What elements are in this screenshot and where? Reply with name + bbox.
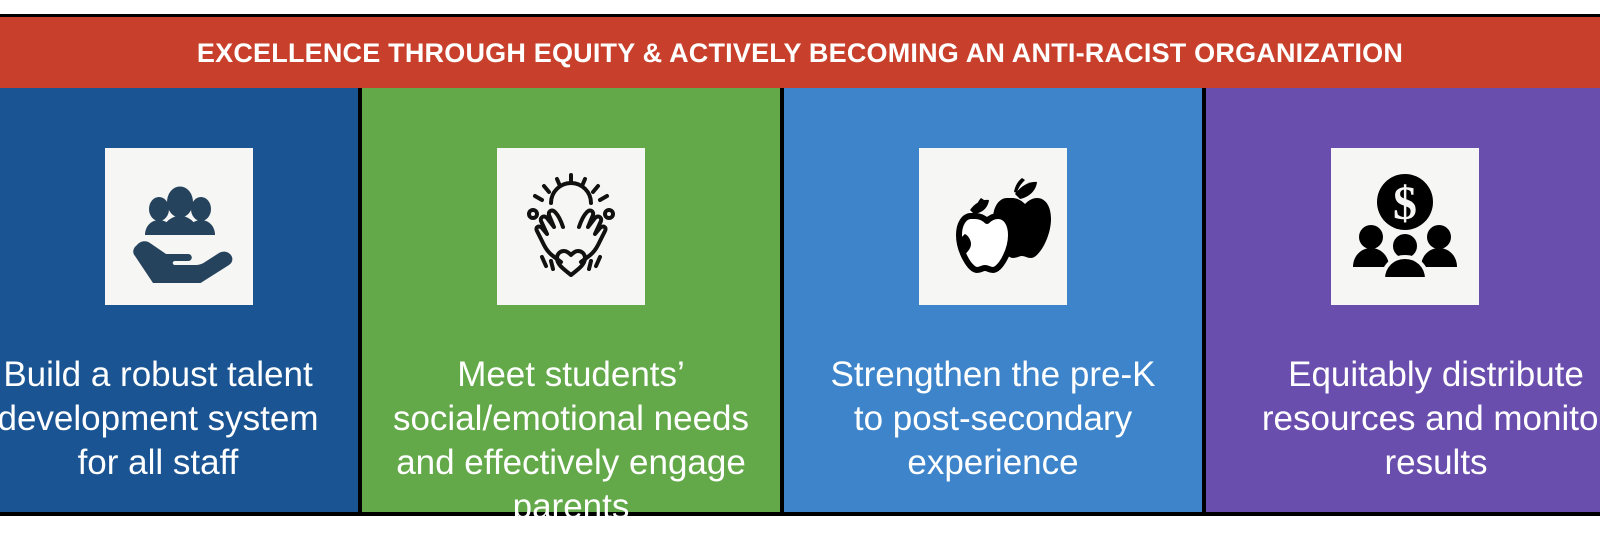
strategic-priorities-poster: EXCELLENCE THROUGH EQUITY & ACTIVELY BEC… bbox=[0, 0, 1600, 545]
two-apples-icon bbox=[935, 172, 1051, 282]
priority-column-talent-development[interactable]: Build a robust talent development system… bbox=[0, 88, 358, 516]
icon-tile bbox=[105, 148, 253, 305]
icon-tile: $ bbox=[1331, 148, 1479, 305]
priority-column-social-emotional-needs[interactable]: Meet students’ social/emotional needs an… bbox=[362, 88, 780, 516]
priority-columns: Build a robust talent development system… bbox=[0, 88, 1600, 516]
banner-title: EXCELLENCE THROUGH EQUITY & ACTIVELY BEC… bbox=[197, 40, 1403, 67]
priority-column-prek-to-postsecondary[interactable]: Strengthen the pre-K to post-secondary e… bbox=[784, 88, 1202, 516]
priority-column-label: Meet students’ social/emotional needs an… bbox=[356, 353, 786, 516]
banner: EXCELLENCE THROUGH EQUITY & ACTIVELY BEC… bbox=[0, 14, 1600, 88]
hand-holding-people-icon bbox=[123, 171, 235, 283]
priority-column-equitable-resources[interactable]: $ Equitably distribute resources and mon… bbox=[1206, 88, 1600, 516]
open-hands-heart-sunburst-icon bbox=[513, 169, 629, 285]
dollar-coin-over-people-icon: $ bbox=[1349, 171, 1461, 283]
icon-tile bbox=[919, 148, 1067, 305]
priority-column-label: Build a robust talent development system… bbox=[0, 353, 373, 485]
icon-tile bbox=[497, 148, 645, 305]
priority-column-label: Equitably distribute resources and monit… bbox=[1206, 353, 1600, 485]
priority-column-label: Strengthen the pre-K to post-secondary e… bbox=[778, 353, 1208, 485]
svg-text:$: $ bbox=[1393, 177, 1417, 230]
